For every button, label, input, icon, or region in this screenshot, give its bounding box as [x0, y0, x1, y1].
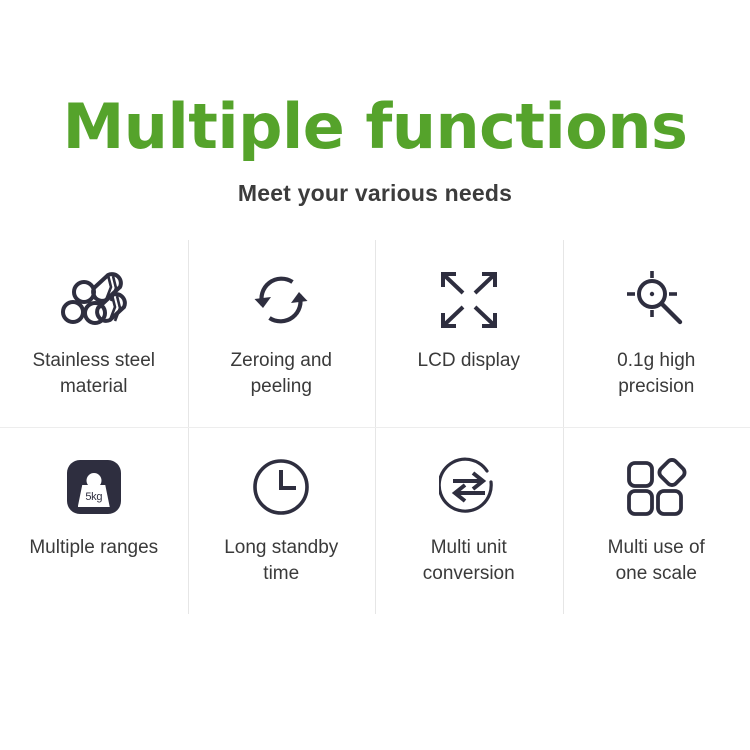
clock-icon	[251, 441, 311, 533]
feature-label: Multiple ranges	[29, 535, 158, 561]
weight-body: 5kg	[78, 485, 110, 507]
feature-label: Stainless steel material	[32, 348, 155, 399]
feature-label: Zeroing and peeling	[231, 348, 332, 399]
expand-four-arrows-icon	[438, 254, 500, 346]
shapes-grid-diamond-icon	[625, 441, 687, 533]
badge-weight-label: 5kg	[85, 490, 102, 503]
circular-refresh-arrows-icon	[250, 254, 312, 346]
feature-grid: Stainless steel material Zeroing and pee…	[0, 240, 750, 614]
feature-highlight-page: Multiple functions Meet your various nee…	[0, 0, 750, 750]
feature-cell-long-standby: Long standby time	[188, 427, 376, 614]
feature-label: Multi unit conversion	[423, 535, 515, 586]
feature-label: 0.1g high precision	[617, 348, 695, 399]
feature-cell-stainless-steel: Stainless steel material	[0, 240, 188, 427]
weight-badge-icon: 5kg	[67, 441, 121, 533]
precision-target-magnifier-icon	[624, 254, 688, 346]
feature-label: LCD display	[418, 348, 520, 374]
feature-cell-multiple-ranges: 5kg Multiple ranges	[0, 427, 188, 614]
feature-cell-lcd-display: LCD display	[375, 240, 563, 427]
stacked-steel-pipes-icon	[61, 254, 127, 346]
page-header: Multiple functions Meet your various nee…	[0, 0, 750, 207]
feature-label: Multi use of one scale	[608, 535, 705, 586]
badge-square: 5kg	[67, 460, 121, 514]
feature-cell-zeroing-peeling: Zeroing and peeling	[188, 240, 376, 427]
feature-cell-high-precision: 0.1g high precision	[563, 240, 750, 427]
feature-label: Long standby time	[224, 535, 338, 586]
exchange-arrows-circle-icon	[439, 441, 499, 533]
weight-shape: 5kg	[77, 473, 111, 507]
page-subtitle: Meet your various needs	[0, 180, 750, 207]
feature-cell-unit-conversion: Multi unit conversion	[375, 427, 563, 614]
page-title: Multiple functions	[0, 96, 750, 158]
feature-cell-multi-use: Multi use of one scale	[563, 427, 750, 614]
